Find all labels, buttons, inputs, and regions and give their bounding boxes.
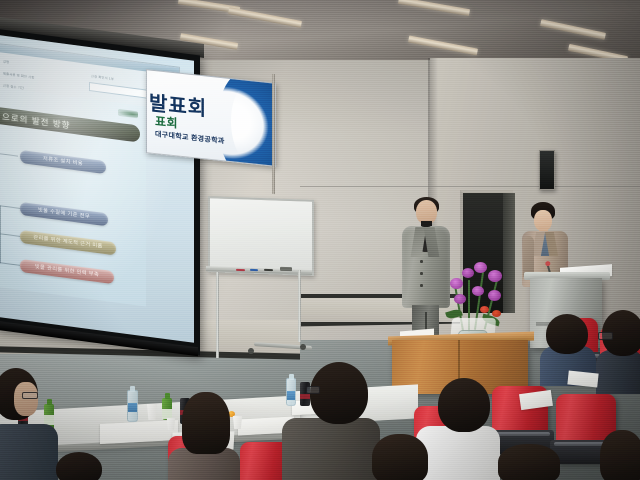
audience-member-head [546, 314, 588, 354]
flow-connector [0, 233, 20, 237]
flow-box-1: 저류조 설치 비용 [20, 150, 106, 174]
whiteboard-eraser[interactable] [280, 267, 292, 271]
flow-box-2: 빗물 수질에 기준 전무 [20, 202, 108, 227]
held-document [567, 370, 598, 387]
whiteboard-marker[interactable] [264, 269, 273, 271]
audience-member-head [372, 434, 428, 480]
whiteboard-stand-leg [216, 272, 219, 358]
coat-button [420, 260, 423, 263]
bottle-label [128, 403, 137, 412]
dialog-input-field[interactable] [89, 82, 149, 99]
presentation-slide: 으로의 발전 방향 저류조 설치 비용 빗물 수질에 기준 전무 관리를 위한 … [0, 86, 146, 306]
orchid-bloom [474, 262, 487, 273]
orchid-bloom [462, 268, 474, 278]
orchid-bloom [472, 286, 484, 296]
whiteboard-caster [300, 344, 306, 350]
orchid-bloom [488, 270, 502, 282]
bottle-label [162, 409, 172, 419]
flow-connector [0, 205, 20, 209]
whiteboard[interactable] [208, 196, 314, 276]
audience-member-head [438, 378, 490, 432]
flow-connector [0, 152, 18, 156]
audience-member-body [596, 350, 640, 394]
flower-bloom-red [480, 306, 489, 313]
coat-button [420, 284, 423, 287]
audience-member-head [498, 444, 560, 480]
flow-connector [0, 262, 20, 266]
whiteboard-stand-leg [298, 270, 301, 342]
wall-seam [300, 186, 640, 187]
eyeglasses [598, 332, 613, 340]
dialog-field-label: 신청 확인서 1부 [91, 73, 114, 81]
wall-speaker [539, 150, 555, 190]
water-bottle [286, 378, 296, 406]
water-bottle [127, 390, 138, 422]
audience-member-face [14, 382, 38, 416]
organization-logo [118, 109, 138, 119]
lecture-hall-scene: 성명 제출서류 및 확인 사항 신청 접수 기간 신청 확인서 1부 확인 으로… [0, 0, 640, 480]
whiteboard-marker[interactable] [250, 269, 258, 271]
audience-member-body [282, 418, 380, 480]
bottle-label [287, 391, 295, 400]
flow-box-4: 빗물 관리를 위한 인력 부족 [20, 259, 114, 284]
orchid-bloom [454, 294, 466, 304]
banner-organization: 대구대학교 환경공학과 [155, 129, 225, 146]
eyeglasses [306, 386, 320, 394]
orchid-bloom [450, 278, 463, 289]
audience-member-body [0, 424, 58, 480]
event-banner: 발표회 표회 대구대학교 환경공학과 [146, 69, 276, 167]
table-documents [100, 420, 178, 444]
dialog-line-2: 제출서류 및 확인 사항 [3, 71, 34, 80]
audience-member-head [182, 392, 230, 454]
audience-member-body [416, 426, 500, 480]
audience-member-head [56, 452, 102, 480]
orchid-bloom [488, 290, 501, 301]
flow-box-3: 관리를 위한 제도적 근거 미흡 [20, 230, 116, 256]
can-label [300, 394, 310, 399]
eyeglasses [22, 392, 38, 399]
banner-support-pole [272, 74, 275, 194]
coat-button [420, 272, 423, 275]
dialog-line-1: 성명 [3, 59, 9, 65]
whiteboard-marker[interactable] [236, 269, 245, 271]
audience-member-head [600, 430, 640, 480]
whiteboard-caster [248, 348, 254, 354]
green-bottle [162, 398, 172, 420]
